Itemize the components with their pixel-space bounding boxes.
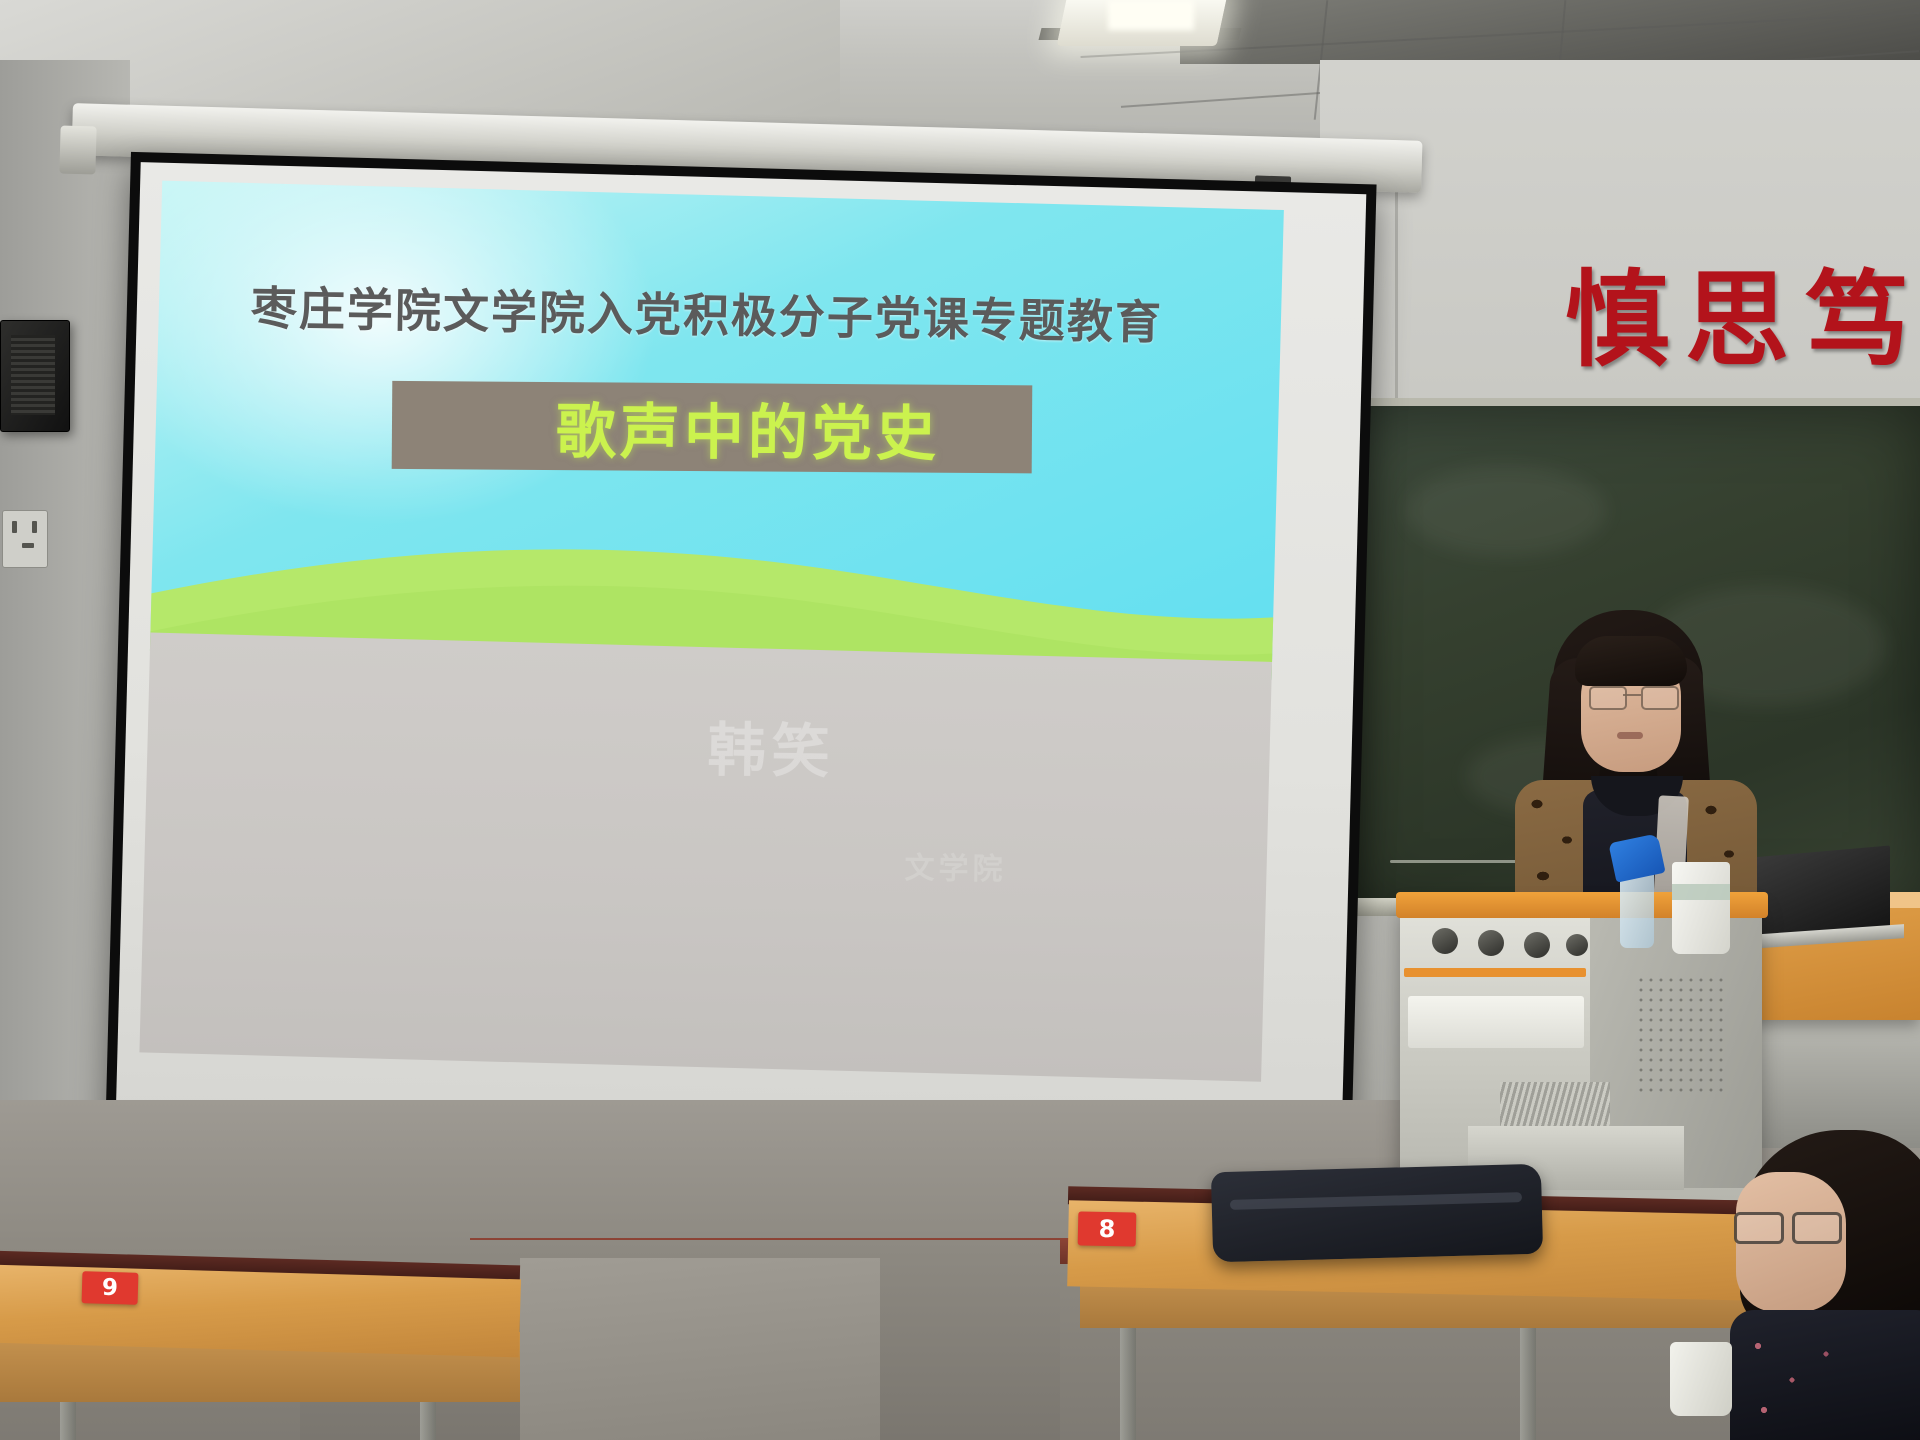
- desk-number-badge-8: 8: [1078, 1211, 1137, 1246]
- slide-lower-panel: 韩笑 文学院: [139, 633, 1272, 1082]
- motto-char-1: 慎: [1565, 268, 1669, 372]
- floor-patch: [520, 1258, 880, 1440]
- screen-housing-endcap: [59, 126, 96, 175]
- podium-knob[interactable]: [1478, 930, 1504, 956]
- student-clothing-pattern: [1730, 1310, 1920, 1440]
- slide-upper-panel: 枣庄学院文学院入党积极分子党课专题教育 歌声中的党史: [150, 181, 1284, 680]
- power-socket[interactable]: [2, 510, 48, 568]
- folded-jacket[interactable]: [1211, 1164, 1543, 1263]
- podium-knob[interactable]: [1524, 932, 1550, 958]
- student-figure: [1740, 1130, 1920, 1440]
- podium-speaker-grille: [1636, 975, 1728, 1095]
- presenter-mouth: [1617, 732, 1643, 739]
- podium-drawer[interactable]: [1408, 996, 1584, 1048]
- paper-cup[interactable]: [1672, 862, 1730, 954]
- podium-vent: [1500, 1082, 1610, 1126]
- slide-presenter-org: 文学院: [904, 843, 1007, 888]
- desk-leg: [1520, 1310, 1536, 1440]
- podium-knob[interactable]: [1432, 928, 1458, 954]
- wall-motto: 慎 思 笃 行: [1565, 268, 1920, 372]
- classroom-photo: 慎 思 笃 行 枣庄学院文学院入党积极分子党课专题教育 歌声中的党史: [0, 0, 1920, 1440]
- screen-surface: 枣庄学院文学院入党积极分子党课专题教育 歌声中的党史 韩笑 文学院: [116, 162, 1367, 1150]
- slide-presenter-name: 韩笑: [707, 703, 836, 789]
- podium-stripe: [1404, 968, 1586, 977]
- glasses-icon: [1734, 1212, 1838, 1238]
- ceiling-light-glow: [1108, 0, 1194, 30]
- motto-char-2: 思: [1685, 268, 1789, 372]
- presenter-fringe: [1575, 636, 1687, 686]
- wall-speaker: [0, 320, 70, 432]
- projection-screen[interactable]: 枣庄学院文学院入党积极分子党课专题教育 歌声中的党史 韩笑 文学院: [105, 152, 1376, 1160]
- desk-number-badge-9: 9: [82, 1271, 139, 1305]
- motto-char-3: 笃: [1805, 268, 1909, 372]
- podium-knob[interactable]: [1566, 934, 1588, 956]
- paper-cup-band: [1672, 884, 1730, 900]
- chalk-mark: [1390, 860, 1520, 863]
- student-cup[interactable]: [1670, 1342, 1732, 1416]
- desk-surface-9[interactable]: [0, 1265, 521, 1358]
- glasses-icon: [1589, 686, 1675, 706]
